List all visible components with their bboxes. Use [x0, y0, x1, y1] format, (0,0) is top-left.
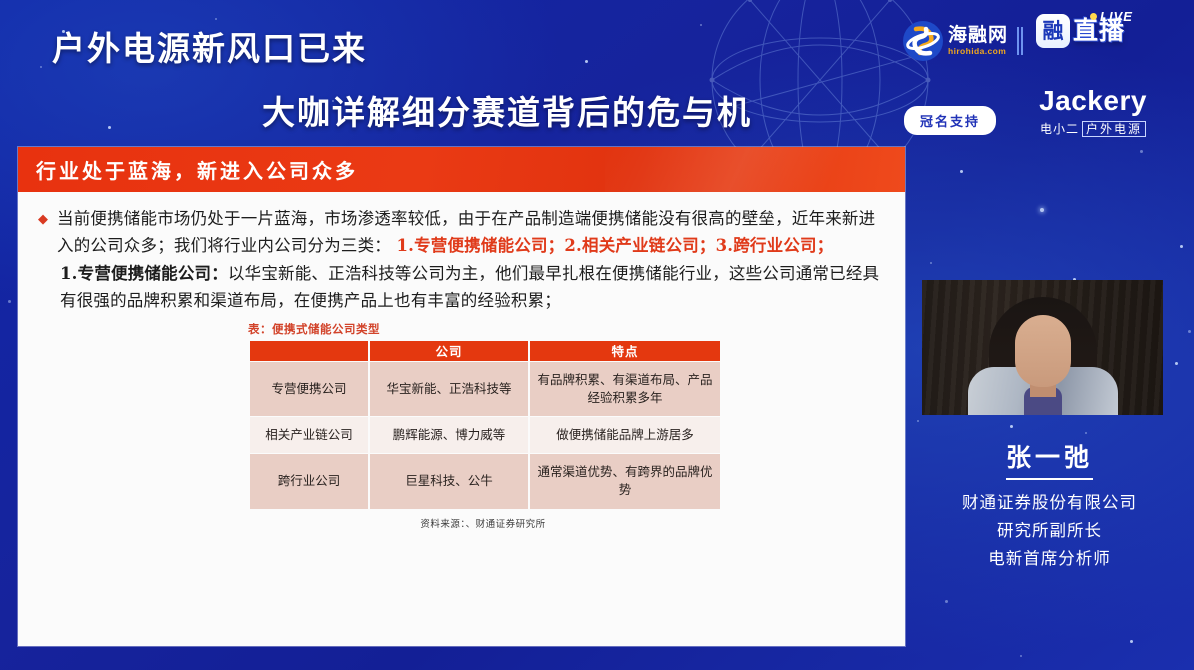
table-cell-company: 巨星科技、公牛 — [370, 454, 528, 508]
paragraph-1-red-text: 1.专营便携储能公司；2.相关产业链公司；3.跨行业公司； — [396, 236, 833, 255]
decorative-dot — [1010, 425, 1013, 428]
decorative-dot — [8, 300, 11, 303]
slide-paragraph-2: 1.专营便携储能公司：以华宝新能、正浩科技等公司为主，他们最早扎根在便携储能行业… — [60, 261, 885, 314]
live-stream-stage: 户外电源新风口已来 大咖详解细分赛道背后的危与机 海融网 hirohida.co… — [0, 0, 1194, 670]
slide-body: ◆ 当前便携储能市场仍处于一片蓝海，市场渗透率较低，由于在产品制造端便携储能没有… — [18, 192, 905, 530]
presentation-slide[interactable]: 行业处于蓝海，新进入公司众多 ◆ 当前便携储能市场仍处于一片蓝海，市场渗透率较低… — [18, 147, 905, 646]
slide-paragraph-1-text: 当前便携储能市场仍处于一片蓝海，市场渗透率较低，由于在产品制造端便携储能没有很高… — [57, 206, 885, 259]
live-dot-icon — [1090, 13, 1097, 20]
table-cell-category: 跨行业公司 — [250, 454, 368, 508]
speaker-title: 电新首席分析师 — [905, 548, 1194, 572]
table-cell-category: 专营便携公司 — [250, 362, 368, 416]
sponsor-support-badge: 冠名支持 — [904, 106, 996, 135]
header-title-group: 户外电源新风口已来 大咖详解细分赛道背后的危与机 — [0, 0, 910, 150]
decorative-dot — [930, 262, 932, 264]
jackery-subtitle: 电小二户外电源 — [1002, 120, 1184, 137]
hairongwang-wordmark: 海融网 hirohida.com — [948, 26, 1008, 56]
speaker-role: 研究所副所长 — [905, 520, 1194, 544]
hairongwang-cn-text: 海融网 — [948, 26, 1008, 45]
jackery-wordmark: Jackery — [1002, 86, 1184, 115]
live-badge: LIVE — [1090, 9, 1133, 24]
jackery-sub-box: 户外电源 — [1082, 121, 1146, 137]
table-row: 跨行业公司 巨星科技、公牛 通常渠道优势、有跨界的品牌优势 — [250, 454, 720, 508]
table-cell-feature: 通常渠道优势、有跨界的品牌优势 — [530, 454, 720, 508]
paragraph-2-lead-text: 1.专营便携储能公司： — [60, 264, 228, 283]
company-type-table: 公司 特点 专营便携公司 华宝新能、正浩科技等 有品牌积累、有渠道布局、产品经验… — [248, 340, 722, 510]
table-caption: 表：便携式储能公司类型 — [248, 321, 885, 337]
decorative-dot — [1140, 150, 1143, 153]
table-cell-company: 鹏辉能源、博力威等 — [370, 417, 528, 453]
logo-divider-icon — [1017, 27, 1023, 55]
brand-logo-bar: 海融网 hirohida.com 融 直播 LIVE 冠名支持 Jackery … — [896, 8, 1186, 148]
decorative-dot — [1175, 362, 1178, 365]
table-header-cell-company: 公司 — [370, 341, 528, 361]
live-label: LIVE — [1100, 9, 1133, 24]
swirl-logo-icon — [902, 20, 944, 62]
speaker-video-feed[interactable] — [922, 280, 1163, 415]
rong-live-logo[interactable]: 融 直播 LIVE — [1036, 14, 1125, 48]
speaker-face — [1015, 315, 1071, 387]
jackery-sub-name: 电小二 — [1040, 122, 1079, 136]
decorative-dot — [1180, 245, 1183, 248]
speaker-info-panel: 张一弛 财通证券股份有限公司 研究所副所长 电新首席分析师 — [905, 438, 1194, 572]
jackery-logo[interactable]: Jackery 电小二户外电源 — [1002, 86, 1184, 137]
table-cell-feature: 做便携储能品牌上游居多 — [530, 417, 720, 453]
table-cell-category: 相关产业链公司 — [250, 417, 368, 453]
decorative-dot — [1130, 640, 1133, 643]
table-header-row: 公司 特点 — [250, 341, 720, 361]
table-source-note: 资料来源：、财通证券研究所 — [248, 516, 718, 530]
slide-title: 行业处于蓝海，新进入公司众多 — [36, 155, 358, 184]
page-title-line-2: 大咖详解细分赛道背后的危与机 — [262, 86, 752, 134]
rong-char: 融 — [1043, 21, 1064, 42]
table-cell-company: 华宝新能、正浩科技等 — [370, 362, 528, 416]
slide-paragraph-1: ◆ 当前便携储能市场仍处于一片蓝海，市场渗透率较低，由于在产品制造端便携储能没有… — [38, 206, 885, 259]
speaker-name: 张一弛 — [1006, 438, 1093, 480]
decorative-dot — [945, 600, 948, 603]
decorative-dot — [1188, 330, 1191, 333]
rong-play-badge-icon: 融 — [1036, 14, 1070, 48]
table-row: 专营便携公司 华宝新能、正浩科技等 有品牌积累、有渠道布局、产品经验积累多年 — [250, 362, 720, 416]
speaker-name-wrap: 张一弛 — [905, 438, 1194, 480]
company-type-table-zone: 表：便携式储能公司类型 公司 特点 专营便携公司 华宝新能、正浩科技等 — [38, 321, 885, 530]
diamond-bullet-icon: ◆ — [38, 212, 48, 226]
hairongwang-logo[interactable]: 海融网 hirohida.com — [902, 20, 1025, 62]
speaker-company: 财通证券股份有限公司 — [905, 492, 1194, 516]
decorative-dot — [1020, 655, 1022, 657]
table-cell-feature: 有品牌积累、有渠道布局、产品经验积累多年 — [530, 362, 720, 416]
hairongwang-en-text: hirohida.com — [948, 47, 1008, 56]
decorative-dot — [1040, 208, 1044, 212]
decorative-dot — [960, 170, 963, 173]
table-header-cell-feature: 特点 — [530, 341, 720, 361]
slide-title-bar: 行业处于蓝海，新进入公司众多 — [18, 147, 905, 192]
decorative-dot — [917, 420, 919, 422]
page-title-line-1: 户外电源新风口已来 — [52, 22, 367, 70]
decorative-dot — [1085, 432, 1087, 434]
table-row: 相关产业链公司 鹏辉能源、博力威等 做便携储能品牌上游居多 — [250, 417, 720, 453]
table-header-cell-blank — [250, 341, 368, 361]
